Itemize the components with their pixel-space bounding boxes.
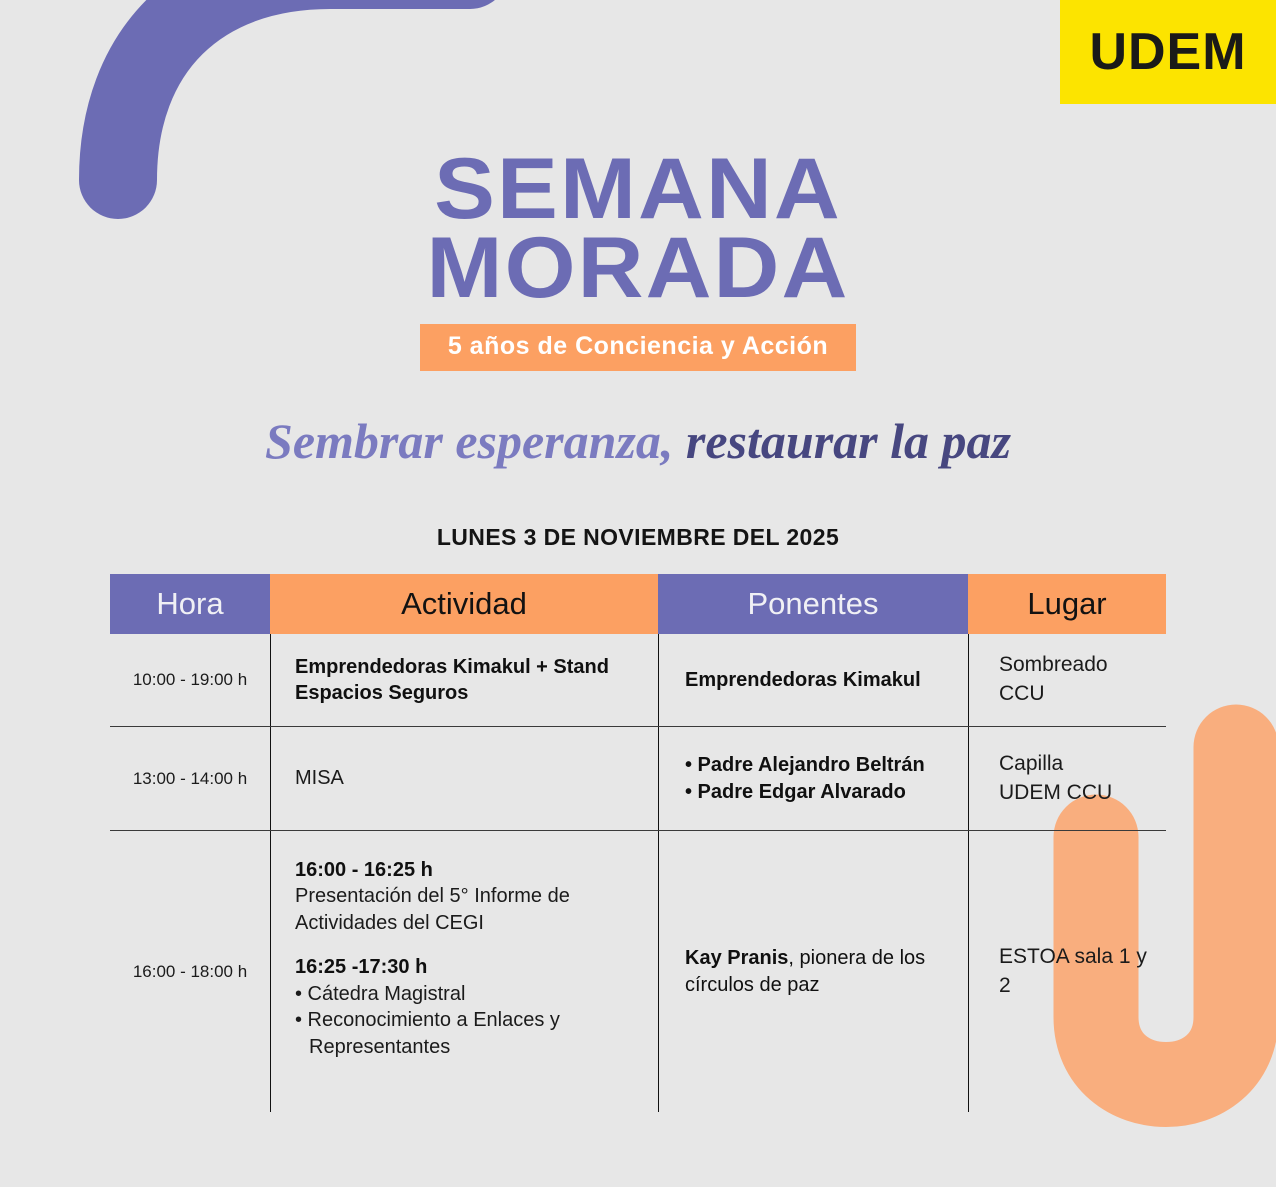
cell-lugar: Capilla UDEM CCU — [968, 727, 1166, 830]
cell-lugar: Sombreado CCU — [968, 634, 1166, 726]
cell-actividad: Emprendedoras Kimakul + Stand Espacios S… — [270, 634, 658, 726]
spacer — [295, 936, 636, 954]
table-row: 16:00 - 18:00 h 16:00 - 16:25 h Presenta… — [110, 831, 1166, 1112]
schedule-table: Hora Actividad Ponentes Lugar 10:00 - 19… — [110, 574, 1166, 1112]
table-row: 10:00 - 19:00 h Emprendedoras Kimakul + … — [110, 634, 1166, 727]
cell-actividad: MISA — [270, 727, 658, 830]
row1-speaker: Emprendedoras Kimakul — [685, 667, 921, 694]
event-date: LUNES 3 DE NOVIEMBRE DEL 2025 — [0, 524, 1276, 551]
row2-place-line2: UDEM CCU — [999, 779, 1112, 808]
cell-hora: 10:00 - 19:00 h — [110, 634, 270, 726]
row2-speaker-1: • Padre Alejandro Beltrán — [685, 752, 925, 779]
row3-speaker: Kay Pranis, pionera de los círculos de p… — [685, 945, 958, 999]
tagline-part-b: restaurar la paz — [673, 413, 1011, 469]
column-header-actividad: Actividad — [270, 574, 658, 634]
row3-speaker-name: Kay Pranis — [685, 947, 788, 969]
row1-activity: Emprendedoras Kimakul + Stand Espacios S… — [295, 654, 636, 707]
row2-activity: MISA — [295, 765, 344, 791]
column-header-ponentes: Ponentes — [658, 574, 968, 634]
row3-bullet-2: • Reconocimiento a Enlaces y Representan… — [295, 1007, 636, 1061]
title-line-2: MORADA — [0, 229, 1276, 308]
row3-time: 16:00 - 18:00 h — [133, 962, 247, 982]
cell-actividad: 16:00 - 16:25 h Presentación del 5° Info… — [270, 831, 658, 1112]
schedule-body: 10:00 - 19:00 h Emprendedoras Kimakul + … — [110, 634, 1166, 1112]
subtitle-ribbon: 5 años de Conciencia y Acción — [420, 324, 856, 371]
row3-slot1-desc: Presentación del 5° Informe de Actividad… — [295, 883, 636, 936]
poster-canvas: UDEM SEMANA MORADA 5 años de Conciencia … — [0, 0, 1276, 1187]
cell-ponentes: Emprendedoras Kimakul — [658, 634, 968, 726]
cell-hora: 13:00 - 14:00 h — [110, 727, 270, 830]
row1-place: Sombreado CCU — [999, 651, 1158, 709]
row2-time: 13:00 - 14:00 h — [133, 769, 247, 789]
table-row: 13:00 - 14:00 h MISA • Padre Alejandro B… — [110, 727, 1166, 831]
row3-bullet-1: • Cátedra Magistral — [295, 981, 636, 1008]
tagline-part-a: Sembrar esperanza, — [265, 413, 673, 469]
row1-time: 10:00 - 19:00 h — [133, 670, 247, 690]
cell-ponentes: Kay Pranis, pionera de los círculos de p… — [658, 831, 968, 1112]
schedule-header-row: Hora Actividad Ponentes Lugar — [110, 574, 1166, 634]
udem-logo: UDEM — [1060, 0, 1276, 104]
cell-ponentes: • Padre Alejandro Beltrán • Padre Edgar … — [658, 727, 968, 830]
title-line-1: SEMANA — [0, 150, 1276, 229]
cell-lugar: ESTOA sala 1 y 2 — [968, 831, 1166, 1112]
row3-place: ESTOA sala 1 y 2 — [999, 943, 1158, 1001]
row3-slot2-bullets: • Cátedra Magistral • Reconocimiento a E… — [295, 981, 636, 1061]
event-tagline: Sembrar esperanza, restaurar la paz — [0, 412, 1276, 470]
event-title-block: SEMANA MORADA 5 años de Conciencia y Acc… — [0, 150, 1276, 371]
row3-slot1-time: 16:00 - 16:25 h — [295, 857, 636, 883]
row2-speaker-2: • Padre Edgar Alvarado — [685, 779, 925, 806]
row3-slot2-time: 16:25 -17:30 h — [295, 954, 636, 980]
row2-place-line1: Capilla — [999, 750, 1112, 779]
column-header-lugar: Lugar — [968, 574, 1166, 634]
cell-hora: 16:00 - 18:00 h — [110, 831, 270, 1112]
column-header-hora: Hora — [110, 574, 270, 634]
udem-logo-text: UDEM — [1089, 22, 1246, 82]
